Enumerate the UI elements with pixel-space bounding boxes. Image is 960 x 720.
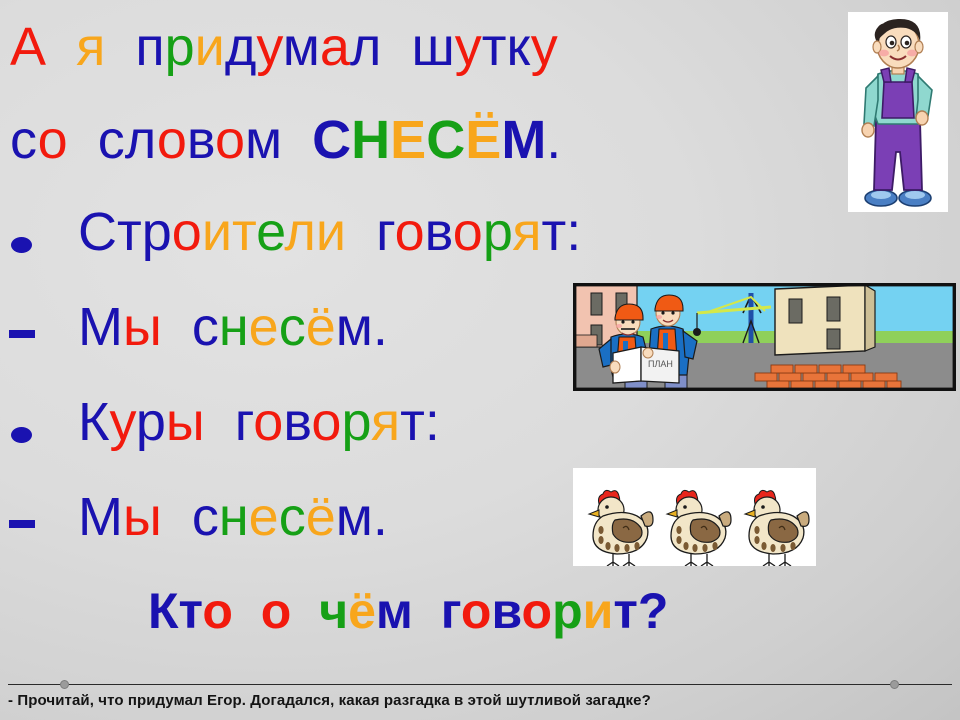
glyph: м: [283, 17, 320, 77]
glyph: [162, 487, 177, 547]
glyph: т: [117, 202, 142, 262]
glyph: г: [376, 202, 395, 262]
glyph: [381, 17, 396, 77]
glyph: я: [76, 17, 105, 77]
glyph: ?: [638, 583, 669, 639]
glyph: М: [78, 487, 123, 547]
glyph: Ё: [465, 110, 501, 170]
glyph: т: [482, 17, 507, 77]
glyph: о: [38, 110, 68, 170]
glyph: н: [219, 297, 249, 357]
glyph: [68, 110, 83, 170]
glyph: р: [165, 17, 195, 77]
glyph: с: [279, 297, 306, 357]
glyph: [361, 202, 376, 262]
glyph: и: [195, 17, 225, 77]
glyph: [305, 583, 319, 639]
glyph: [61, 17, 76, 77]
placeholder-handle-right[interactable]: [890, 680, 899, 689]
glyph: .: [373, 297, 388, 357]
glyph: о: [461, 583, 492, 639]
glyph: [162, 297, 177, 357]
glyph: ё: [348, 583, 376, 639]
glyph: р: [483, 202, 512, 262]
glyph: о: [522, 583, 553, 639]
glyph: с: [10, 110, 38, 170]
glyph: м: [376, 583, 413, 639]
dash-icon-2: [9, 520, 35, 528]
glyph: [396, 17, 411, 77]
glyph: [46, 17, 61, 77]
footer-divider: [8, 684, 952, 685]
glyph: о: [215, 110, 245, 170]
glyph: в: [491, 583, 521, 639]
glyph: [205, 392, 220, 452]
glyph: р: [142, 202, 172, 262]
text-line-3: Строители говорят:: [78, 205, 581, 259]
glyph: К: [148, 583, 179, 639]
glyph: и: [316, 202, 346, 262]
bullet-dot-icon-2: [11, 427, 32, 443]
glyph: и: [583, 583, 614, 639]
glyph: Е: [390, 110, 426, 170]
glyph: л: [284, 202, 316, 262]
glyph: ё: [306, 297, 336, 357]
glyph: .: [546, 110, 561, 170]
glyph: А: [10, 17, 46, 77]
glyph: о: [172, 202, 202, 262]
bullet-dot-icon-1: [11, 237, 32, 253]
glyph: т: [400, 392, 425, 452]
glyph: [83, 110, 98, 170]
glyph: о: [453, 202, 483, 262]
glyph: ы: [123, 297, 162, 357]
glyph: [120, 17, 135, 77]
slide-canvas: А я придумал шутку со словом СНЕСЁМ. Стр…: [0, 0, 960, 720]
glyph: п: [135, 17, 164, 77]
glyph: с: [279, 487, 306, 547]
glyph: [291, 583, 305, 639]
text-line-2: со словом СНЕСЁМ.: [10, 113, 561, 167]
glyph: .: [373, 487, 388, 547]
glyph: в: [187, 110, 215, 170]
glyph: л: [350, 17, 382, 77]
glyph: я: [512, 202, 541, 262]
glyph: с: [192, 487, 219, 547]
glyph: г: [441, 583, 461, 639]
glyph: р: [341, 392, 370, 452]
glyph: [282, 110, 297, 170]
glyph: м: [336, 297, 373, 357]
glyph: С: [78, 202, 117, 262]
glyph: [427, 583, 441, 639]
glyph: [346, 202, 361, 262]
glyph: у: [256, 17, 282, 77]
glyph: е: [256, 202, 284, 262]
glyph: ш: [411, 17, 454, 77]
glyph: [177, 487, 192, 547]
builders-image: ПЛАН: [573, 283, 956, 391]
glyph: м: [245, 110, 282, 170]
glyph: в: [425, 202, 453, 262]
glyph: :: [566, 202, 581, 262]
glyph: :: [425, 392, 440, 452]
glyph: [297, 110, 312, 170]
glyph: о: [311, 392, 341, 452]
glyph: о: [261, 583, 292, 639]
glyph: с: [98, 110, 125, 170]
glyph: р: [552, 583, 583, 639]
glyph: о: [202, 583, 233, 639]
glyph: [220, 392, 235, 452]
glyph: г: [235, 392, 254, 452]
text-line-1: А я придумал шутку: [10, 20, 558, 74]
glyph: м: [336, 487, 373, 547]
glyph: [233, 583, 247, 639]
text-line-4: Мы снесём.: [78, 300, 388, 354]
glyph: [177, 297, 192, 357]
glyph: я: [371, 392, 400, 452]
glyph: к: [507, 17, 531, 77]
glyph: [105, 17, 120, 77]
glyph: е: [249, 487, 279, 547]
boy-image: [848, 12, 948, 212]
glyph: ы: [166, 392, 205, 452]
glyph: [413, 583, 427, 639]
glyph: Н: [351, 110, 390, 170]
glyph: о: [157, 110, 187, 170]
glyph: К: [78, 392, 109, 452]
glyph: у: [109, 392, 135, 452]
footer-caption: - Прочитай, что придумал Егор. Догадался…: [8, 692, 952, 709]
text-line-5: Куры говорят:: [78, 395, 440, 449]
glyph: с: [192, 297, 219, 357]
glyph: т: [179, 583, 203, 639]
glyph: а: [320, 17, 350, 77]
plan-label: ПЛАН: [648, 359, 673, 369]
glyph: т: [542, 202, 567, 262]
glyph: о: [253, 392, 283, 452]
placeholder-handle-left[interactable]: [60, 680, 69, 689]
glyph: [247, 583, 261, 639]
glyph: т: [232, 202, 256, 262]
glyph: л: [125, 110, 157, 170]
glyph: р: [136, 392, 166, 452]
glyph: в: [283, 392, 311, 452]
glyph: М: [501, 110, 546, 170]
dash-icon-1: [9, 330, 35, 338]
chickens-image: [573, 468, 816, 566]
glyph: С: [312, 110, 351, 170]
glyph: д: [225, 17, 257, 77]
glyph: С: [426, 110, 465, 170]
glyph: М: [78, 297, 123, 357]
text-line-7-question: Кто о чём говорит?: [148, 586, 668, 636]
glyph: о: [395, 202, 425, 262]
text-line-6: Мы снесём.: [78, 490, 388, 544]
glyph: н: [219, 487, 249, 547]
glyph: е: [249, 297, 279, 357]
glyph: ё: [306, 487, 336, 547]
glyph: т: [613, 583, 638, 639]
glyph: ы: [123, 487, 162, 547]
glyph: ч: [319, 583, 348, 639]
glyph: у: [455, 17, 482, 77]
glyph: у: [531, 17, 558, 77]
glyph: и: [202, 202, 232, 262]
